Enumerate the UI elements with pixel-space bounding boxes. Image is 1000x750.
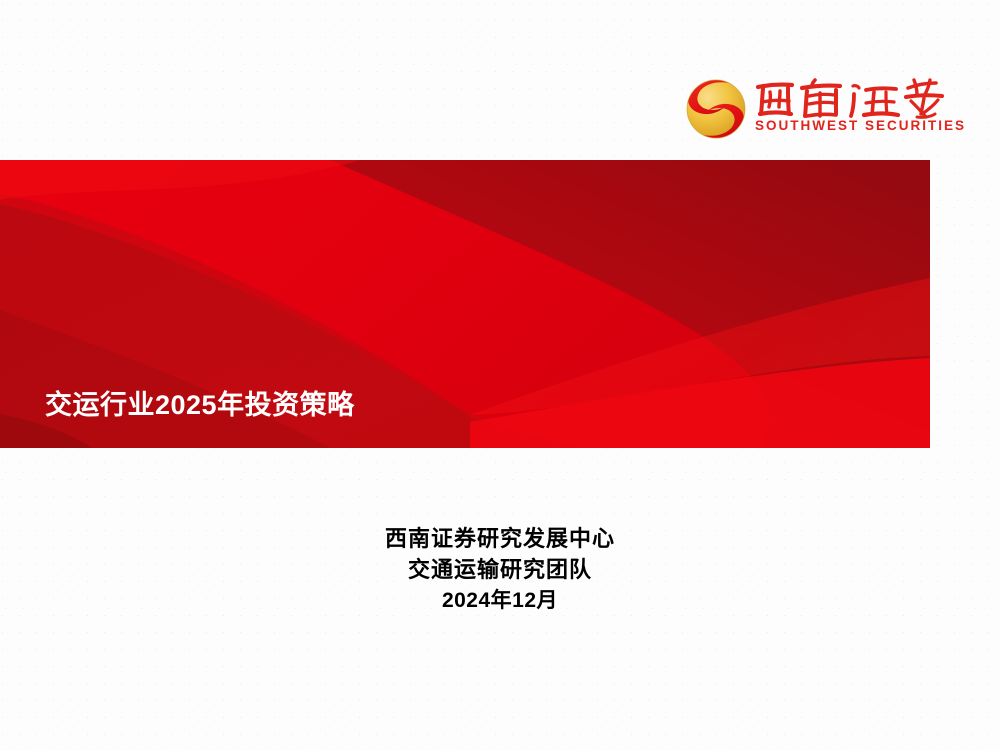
- credit-organization: 西南证券研究发展中心: [0, 523, 1000, 554]
- credit-date: 2024年12月: [0, 585, 1000, 616]
- presentation-slide: SOUTHWEST SECURITIES: [0, 0, 1000, 750]
- brand-chinese-name-calligraphy: [754, 76, 946, 120]
- brand-wordmark: SOUTHWEST SECURITIES: [754, 76, 946, 142]
- brand-logo-lockup: SOUTHWEST SECURITIES: [684, 76, 946, 144]
- credit-team: 交通运输研究团队: [0, 554, 1000, 585]
- southwest-securities-sphere-logo: [684, 77, 748, 141]
- banner-text-group: 交运行业2025年投资策略 绿色航运转型加速，内需首推大宗供应链: [0, 160, 930, 448]
- title-banner: 交运行业2025年投资策略 绿色航运转型加速，内需首推大宗供应链: [0, 160, 930, 448]
- credits-block: 西南证券研究发展中心 交通运输研究团队 2024年12月: [0, 523, 1000, 616]
- brand-english-name: SOUTHWEST SECURITIES: [755, 118, 945, 134]
- slide-subtitle: 交运行业2025年投资策略: [45, 388, 355, 422]
